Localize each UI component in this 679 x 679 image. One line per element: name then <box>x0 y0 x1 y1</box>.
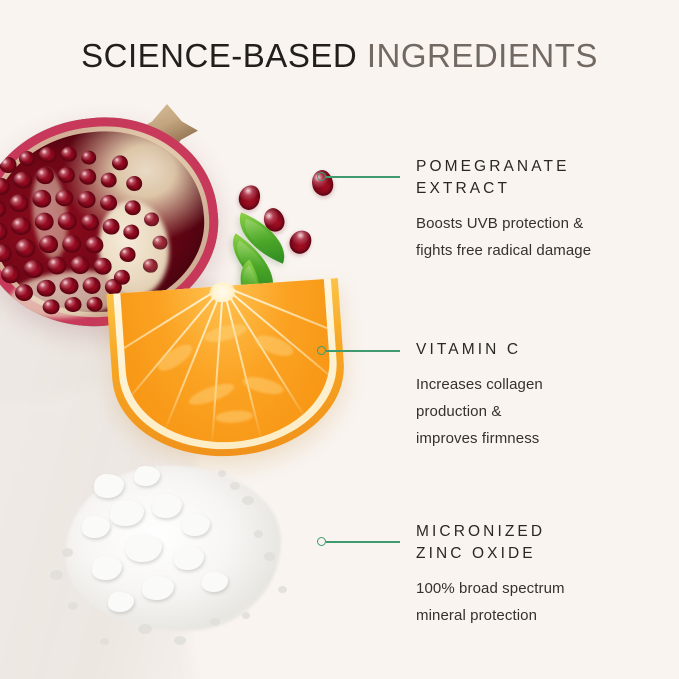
ingredient-heading-micronized-zinc-oxide: MICRONIZED ZINC OXIDE <box>416 521 666 565</box>
ingredients-infographic: SCIENCE-BASED INGREDIENTS <box>0 0 679 679</box>
connector-pomegranate-extract <box>317 171 401 183</box>
ingredient-heading-vitamin-c: VITAMIN C <box>416 339 666 361</box>
page-title-space <box>357 37 367 74</box>
page-title-primary: SCIENCE-BASED <box>81 37 357 74</box>
page-title-secondary: INGREDIENTS <box>367 37 598 74</box>
orange-slice-image <box>106 278 349 464</box>
zinc-oxide-powder-image <box>42 452 332 667</box>
connector-vitamin-c <box>317 345 401 357</box>
circle-marker-icon <box>317 172 326 181</box>
ingredient-description-vitamin-c: Increases collagen production & improves… <box>416 371 666 452</box>
connector-micronized-zinc-oxide <box>317 536 401 548</box>
connector-line <box>326 176 400 178</box>
ingredient-description-micronized-zinc-oxide: 100% broad spectrum mineral protection <box>416 575 666 629</box>
connector-line <box>326 541 400 543</box>
ingredient-description-pomegranate-extract: Boosts UVB protection & fights free radi… <box>416 210 666 264</box>
ingredient-block-vitamin-c: VITAMIN C Increases collagen production … <box>416 339 666 452</box>
ingredient-heading-pomegranate-extract: POMEGRANATE EXTRACT <box>416 156 666 200</box>
circle-marker-icon <box>317 537 326 546</box>
ingredient-block-pomegranate-extract: POMEGRANATE EXTRACT Boosts UVB protectio… <box>416 156 666 264</box>
ingredient-block-micronized-zinc-oxide: MICRONIZED ZINC OXIDE 100% broad spectru… <box>416 521 666 629</box>
page-title: SCIENCE-BASED INGREDIENTS <box>0 38 679 74</box>
connector-line <box>326 350 400 352</box>
circle-marker-icon <box>317 346 326 355</box>
